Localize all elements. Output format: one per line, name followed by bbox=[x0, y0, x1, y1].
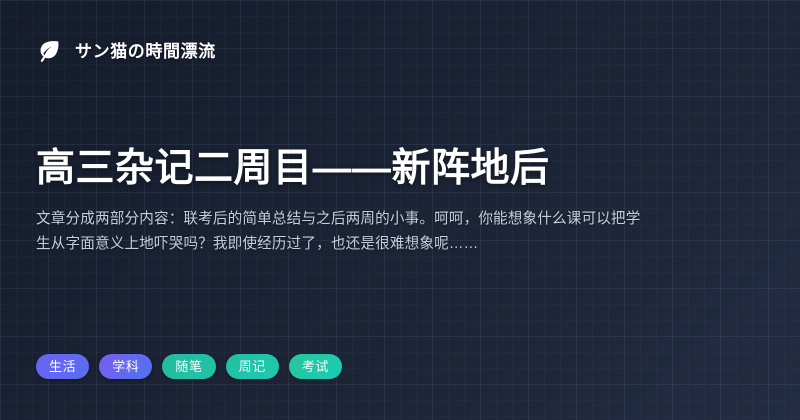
article-hero-banner: サン猫の時間漂流 高三杂记二周目——新阵地后 文章分成两部分内容：联考后的简单总… bbox=[0, 0, 800, 420]
tag-4[interactable]: 周记 bbox=[226, 354, 279, 379]
tag-2[interactable]: 学科 bbox=[99, 354, 152, 379]
leaf-icon bbox=[36, 38, 62, 64]
post-title[interactable]: 高三杂记二周目——新阵地后 bbox=[36, 144, 696, 194]
tag-list: 生活学科随笔周记考试 bbox=[36, 354, 342, 379]
tag-5[interactable]: 考试 bbox=[289, 354, 342, 379]
post-summary: 高三杂记二周目——新阵地后 文章分成两部分内容：联考后的简单总结与之后两周的小事… bbox=[36, 144, 696, 256]
tag-3[interactable]: 随笔 bbox=[162, 354, 215, 379]
tag-1[interactable]: 生活 bbox=[36, 354, 89, 379]
site-title: サン猫の時間漂流 bbox=[75, 43, 216, 60]
site-header[interactable]: サン猫の時間漂流 bbox=[36, 38, 216, 64]
post-description: 文章分成两部分内容：联考后的简单总结与之后两周的小事。呵呵，你能想象什么课可以把… bbox=[36, 207, 653, 256]
